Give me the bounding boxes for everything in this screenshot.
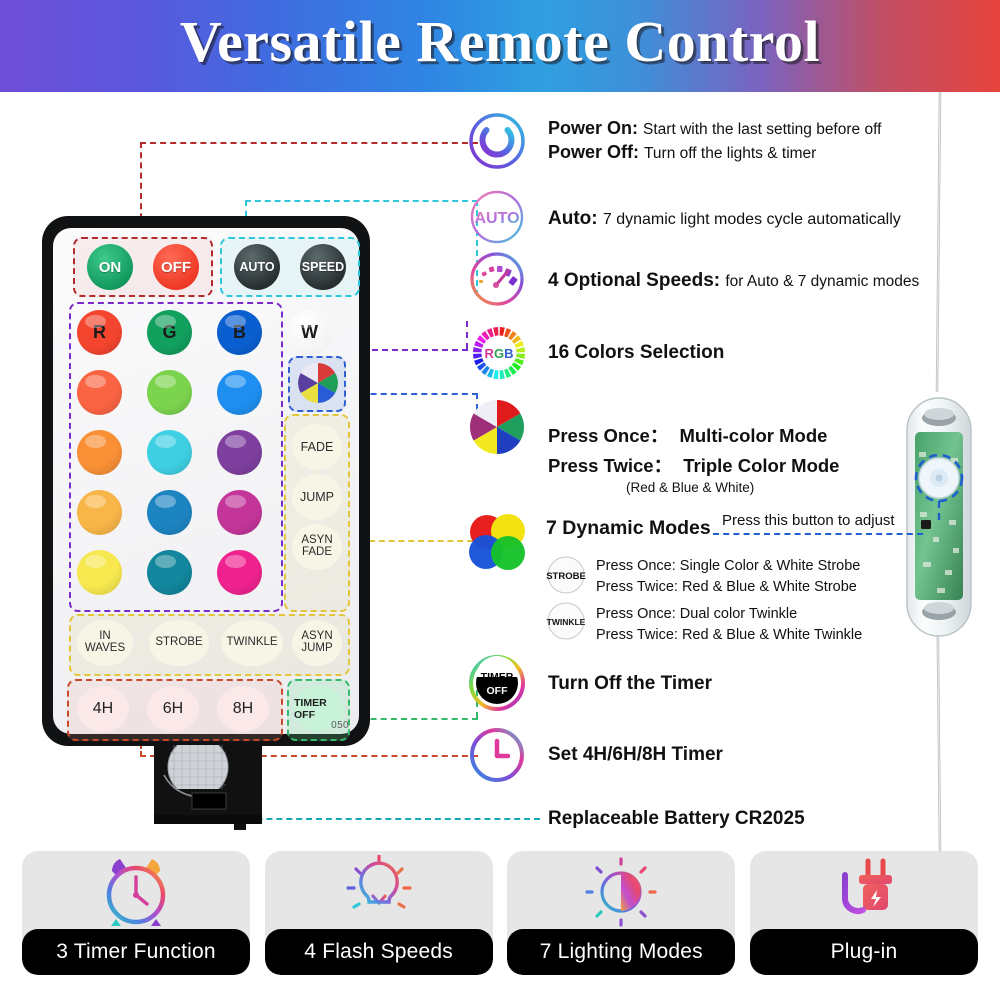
- twinkle-line-1: Press Once: Dual color Twinkle: [596, 604, 862, 625]
- press-button-note: Press this button to adjust: [722, 512, 895, 529]
- annotation-set-timer: Set 4H/6H/8H Timer: [548, 744, 723, 766]
- button-auto[interactable]: AUTO: [234, 244, 280, 290]
- button-asyn-jump-label: ASYN JUMP: [301, 631, 332, 654]
- card-timer-function[interactable]: 3 Timer Function: [22, 851, 250, 975]
- card-timer-label: 3 Timer Function: [56, 940, 216, 964]
- button-color-label: R: [77, 310, 122, 355]
- remote-face: ON OFF AUTO SPEED RGBW: [53, 228, 359, 734]
- svg-text:OFF: OFF: [487, 685, 509, 697]
- annotation-speed: 4 Optional Speeds: for Auto & 7 dynamic …: [548, 270, 919, 292]
- button-color-swatch[interactable]: [147, 490, 192, 535]
- auto-icon: AUTO: [468, 188, 526, 246]
- annotation-colors: 16 Colors Selection: [548, 342, 724, 364]
- svg-text:AUTO: AUTO: [474, 210, 519, 227]
- button-strobe[interactable]: STROBE: [149, 620, 209, 666]
- button-color-swatch[interactable]: [217, 430, 262, 475]
- button-in-waves[interactable]: IN WAVES: [77, 620, 133, 666]
- button-in-waves-label: IN WAVES: [85, 631, 125, 654]
- button-asyn-fade[interactable]: ASYN FADE: [292, 524, 342, 570]
- button-speed-label: SPEED: [302, 260, 344, 274]
- button-jump[interactable]: JUMP: [292, 474, 342, 520]
- card-flash-label: 4 Flash Speeds: [304, 940, 453, 964]
- button-color-label: G: [147, 310, 192, 355]
- brightness-icon: [507, 851, 735, 933]
- button-8h-label: 8H: [233, 700, 253, 718]
- button-speed[interactable]: SPEED: [300, 244, 346, 290]
- button-color-swatch[interactable]: [77, 430, 122, 475]
- card-timer-label-bar: 3 Timer Function: [22, 929, 250, 975]
- button-color-swatch[interactable]: [217, 550, 262, 595]
- button-4h-label: 4H: [93, 700, 113, 718]
- clock-icon: [468, 726, 526, 784]
- rgb-wheel-icon: RGB: [470, 324, 528, 382]
- press-twice-label: Press Twice：: [548, 455, 672, 476]
- strobe-badge-icon: STROBE: [544, 556, 588, 594]
- button-color-w[interactable]: W: [287, 310, 332, 355]
- auto-label: Auto:: [548, 208, 598, 229]
- button-auto-label: AUTO: [239, 260, 274, 274]
- button-8h[interactable]: 8H: [217, 686, 269, 732]
- annotation-timer-off: Turn Off the Timer: [548, 673, 712, 695]
- button-twinkle[interactable]: TWINKLE: [221, 620, 283, 666]
- button-fade-label: FADE: [301, 441, 334, 454]
- button-strobe-label: STROBE: [155, 637, 202, 649]
- card-plug-in[interactable]: Plug-in: [750, 851, 978, 975]
- annotation-auto: Auto: 7 dynamic light modes cycle automa…: [548, 208, 901, 230]
- twinkle-line-2: Press Twice: Red & Blue & White Twinkle: [596, 625, 862, 646]
- timer-off-icon: TIMER OFF: [468, 654, 526, 712]
- button-color-swatch[interactable]: [217, 490, 262, 535]
- button-on-label: ON: [99, 259, 122, 276]
- annotation-battery: Replaceable Battery CR2025: [548, 808, 805, 830]
- button-color-label: B: [217, 310, 262, 355]
- power-on-label: Power On:: [548, 118, 638, 138]
- card-flash-speeds[interactable]: 4 Flash Speeds: [265, 851, 493, 975]
- page-title: Versatile Remote Control: [0, 8, 1000, 75]
- button-color-swatch[interactable]: [77, 490, 122, 535]
- card-plug-label: Plug-in: [831, 940, 898, 964]
- power-icon: [468, 112, 526, 170]
- alarm-clock-icon: [22, 851, 250, 933]
- strobe-line-2: Press Twice: Red & Blue & White Strobe: [596, 577, 860, 598]
- auto-desc: 7 dynamic light modes cycle automaticall…: [603, 211, 901, 228]
- button-color-swatch[interactable]: [217, 370, 262, 415]
- button-4h[interactable]: 4H: [77, 686, 129, 732]
- svg-text:RGB: RGB: [485, 346, 514, 361]
- card-plug-label-bar: Plug-in: [750, 929, 978, 975]
- feature-cards: 3 Timer Function: [22, 851, 978, 975]
- strobe-badge-label: STROBE: [546, 571, 586, 582]
- power-off-label: Power Off:: [548, 142, 639, 162]
- button-asyn-jump[interactable]: ASYN JUMP: [292, 620, 342, 666]
- annotation-power: Power On: Start with the last setting be…: [548, 118, 881, 163]
- button-6h[interactable]: 6H: [147, 686, 199, 732]
- button-color-swatch[interactable]: [147, 430, 192, 475]
- power-on-desc: Start with the last setting before off: [643, 121, 881, 138]
- strobe-notes: Press Once: Single Color & White Strobe …: [596, 556, 860, 597]
- button-color-b[interactable]: B: [217, 310, 262, 355]
- press-once-desc: Multi-color Mode: [679, 425, 827, 446]
- color-pie-icon: [468, 398, 526, 456]
- button-fade[interactable]: FADE: [292, 424, 342, 470]
- button-color-r[interactable]: R: [77, 310, 122, 355]
- button-color-swatch[interactable]: [77, 550, 122, 595]
- button-color-label: W: [287, 310, 332, 355]
- battery-tray: [148, 745, 273, 830]
- button-color-g[interactable]: G: [147, 310, 192, 355]
- twinkle-notes: Press Once: Dual color Twinkle Press Twi…: [596, 604, 862, 645]
- dynamic-modes-icon: [466, 512, 528, 574]
- speed-desc: for Auto & 7 dynamic modes: [725, 273, 919, 290]
- header-banner: Versatile Remote Control: [0, 0, 1000, 92]
- power-plug-icon: [750, 851, 978, 933]
- light-bulb-icon: [265, 851, 493, 933]
- led-controller-capsule: [893, 392, 985, 642]
- button-twinkle-label: TWINKLE: [226, 637, 277, 649]
- press-once-label: Press Once：: [548, 425, 668, 446]
- button-jump-label: JUMP: [300, 491, 334, 504]
- card-modes-label: 7 Lighting Modes: [540, 940, 703, 964]
- connector-press-button: [713, 533, 925, 537]
- button-color-swatch[interactable]: [147, 370, 192, 415]
- button-timer-off-label: TIMER OFF: [294, 697, 344, 721]
- annotation-color-modes: Press Once： Multi-color Mode Press Twice…: [548, 422, 839, 495]
- button-off[interactable]: OFF: [153, 244, 199, 290]
- press-twice-desc: Triple Color Mode: [683, 455, 839, 476]
- button-asyn-fade-label: ASYN FADE: [301, 535, 332, 558]
- button-6h-label: 6H: [163, 700, 183, 718]
- twinkle-badge-icon: TWINKLE: [544, 602, 588, 640]
- twinkle-badge-label: TWINKLE: [547, 617, 586, 627]
- card-flash-label-bar: 4 Flash Speeds: [265, 929, 493, 975]
- power-off-desc: Turn off the lights & timer: [644, 145, 816, 162]
- button-off-label: OFF: [161, 259, 191, 276]
- button-on[interactable]: ON: [87, 244, 133, 290]
- remote-model-number: 050: [331, 720, 349, 731]
- card-lighting-modes[interactable]: 7 Lighting Modes: [507, 851, 735, 975]
- triple-color-note: (Red & Blue & White): [626, 480, 839, 495]
- button-color-swatch[interactable]: [147, 550, 192, 595]
- speed-label: 4 Optional Speeds:: [548, 270, 720, 291]
- annotation-dynamic-modes: 7 Dynamic Modes: [546, 517, 711, 540]
- strobe-line-1: Press Once: Single Color & White Strobe: [596, 556, 860, 577]
- svg-text:TIMER: TIMER: [481, 671, 514, 683]
- remote-control: ON OFF AUTO SPEED RGBW: [42, 216, 370, 746]
- speed-gauge-icon: [468, 250, 526, 308]
- button-color-swatch[interactable]: [77, 370, 122, 415]
- card-modes-label-bar: 7 Lighting Modes: [507, 929, 735, 975]
- button-multicolor-wheel[interactable]: [298, 363, 338, 403]
